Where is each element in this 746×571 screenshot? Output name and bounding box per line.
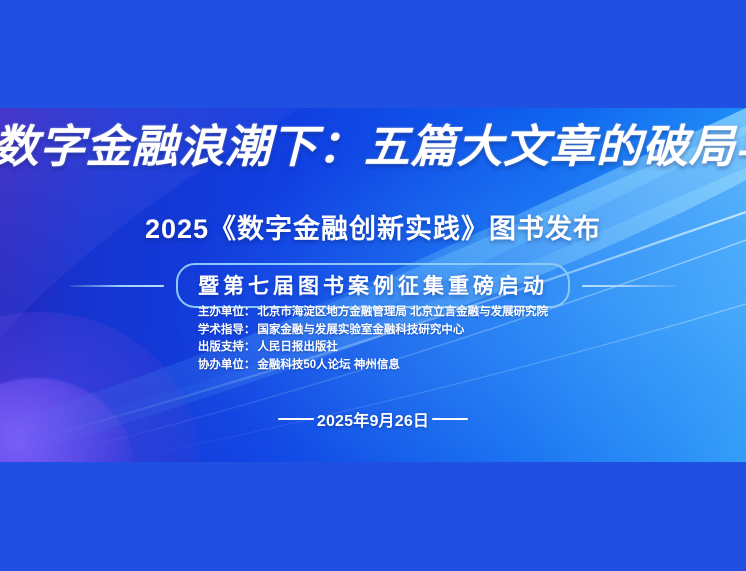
credits-block: 主办单位：北京市海淀区地方金融管理局 北京立言金融与发展研究院 学术指导：国家金…	[0, 304, 746, 374]
credit-line-publishing-support: 出版支持：人民日报出版社	[198, 339, 548, 357]
poster-page: 数字金融浪潮下：五篇大文章的破局与重构 2025《数字金融创新实践》图书发布 暨…	[0, 0, 746, 571]
decorative-rule-right	[582, 285, 676, 287]
credit-label: 协办单位：	[198, 359, 256, 371]
event-poster: 数字金融浪潮下：五篇大文章的破局与重构 2025《数字金融创新实践》图书发布 暨…	[0, 108, 746, 462]
date-dash-right-icon	[432, 418, 468, 421]
poster-content: 数字金融浪潮下：五篇大文章的破局与重构 2025《数字金融创新实践》图书发布 暨…	[0, 108, 746, 462]
credit-label: 主办单位：	[198, 306, 256, 318]
launch-badge: 暨第七届图书案例征集重磅启动	[176, 263, 570, 308]
credit-value: 人民日报出版社	[257, 341, 338, 353]
credit-value: 北京市海淀区地方金融管理局 北京立言金融与发展研究院	[257, 306, 548, 318]
event-date: 2025年9月26日	[317, 407, 429, 431]
page-title: 数字金融浪潮下：五篇大文章的破局与重构	[0, 124, 746, 171]
credit-line-co-organizer: 协办单位：金融科技50人论坛 神州信息	[198, 357, 548, 375]
credit-label: 学术指导：	[198, 324, 256, 336]
decorative-rule-left	[70, 285, 164, 287]
credit-value: 国家金融与发展实验室金融科技研究中心	[257, 324, 464, 336]
date-dash-left-icon	[278, 418, 314, 421]
event-date-row: 2025年9月26日	[0, 407, 746, 431]
poster-subtitle: 2025《数字金融创新实践》图书发布	[0, 207, 746, 246]
credit-label: 出版支持：	[198, 341, 256, 353]
credit-line-organizer: 主办单位：北京市海淀区地方金融管理局 北京立言金融与发展研究院	[198, 304, 548, 322]
credit-line-academic-guidance: 学术指导：国家金融与发展实验室金融科技研究中心	[198, 322, 548, 340]
launch-banner-row: 暨第七届图书案例征集重磅启动	[0, 263, 746, 308]
credit-value: 金融科技50人论坛 神州信息	[257, 359, 400, 371]
credits-list: 主办单位：北京市海淀区地方金融管理局 北京立言金融与发展研究院 学术指导：国家金…	[198, 304, 548, 374]
